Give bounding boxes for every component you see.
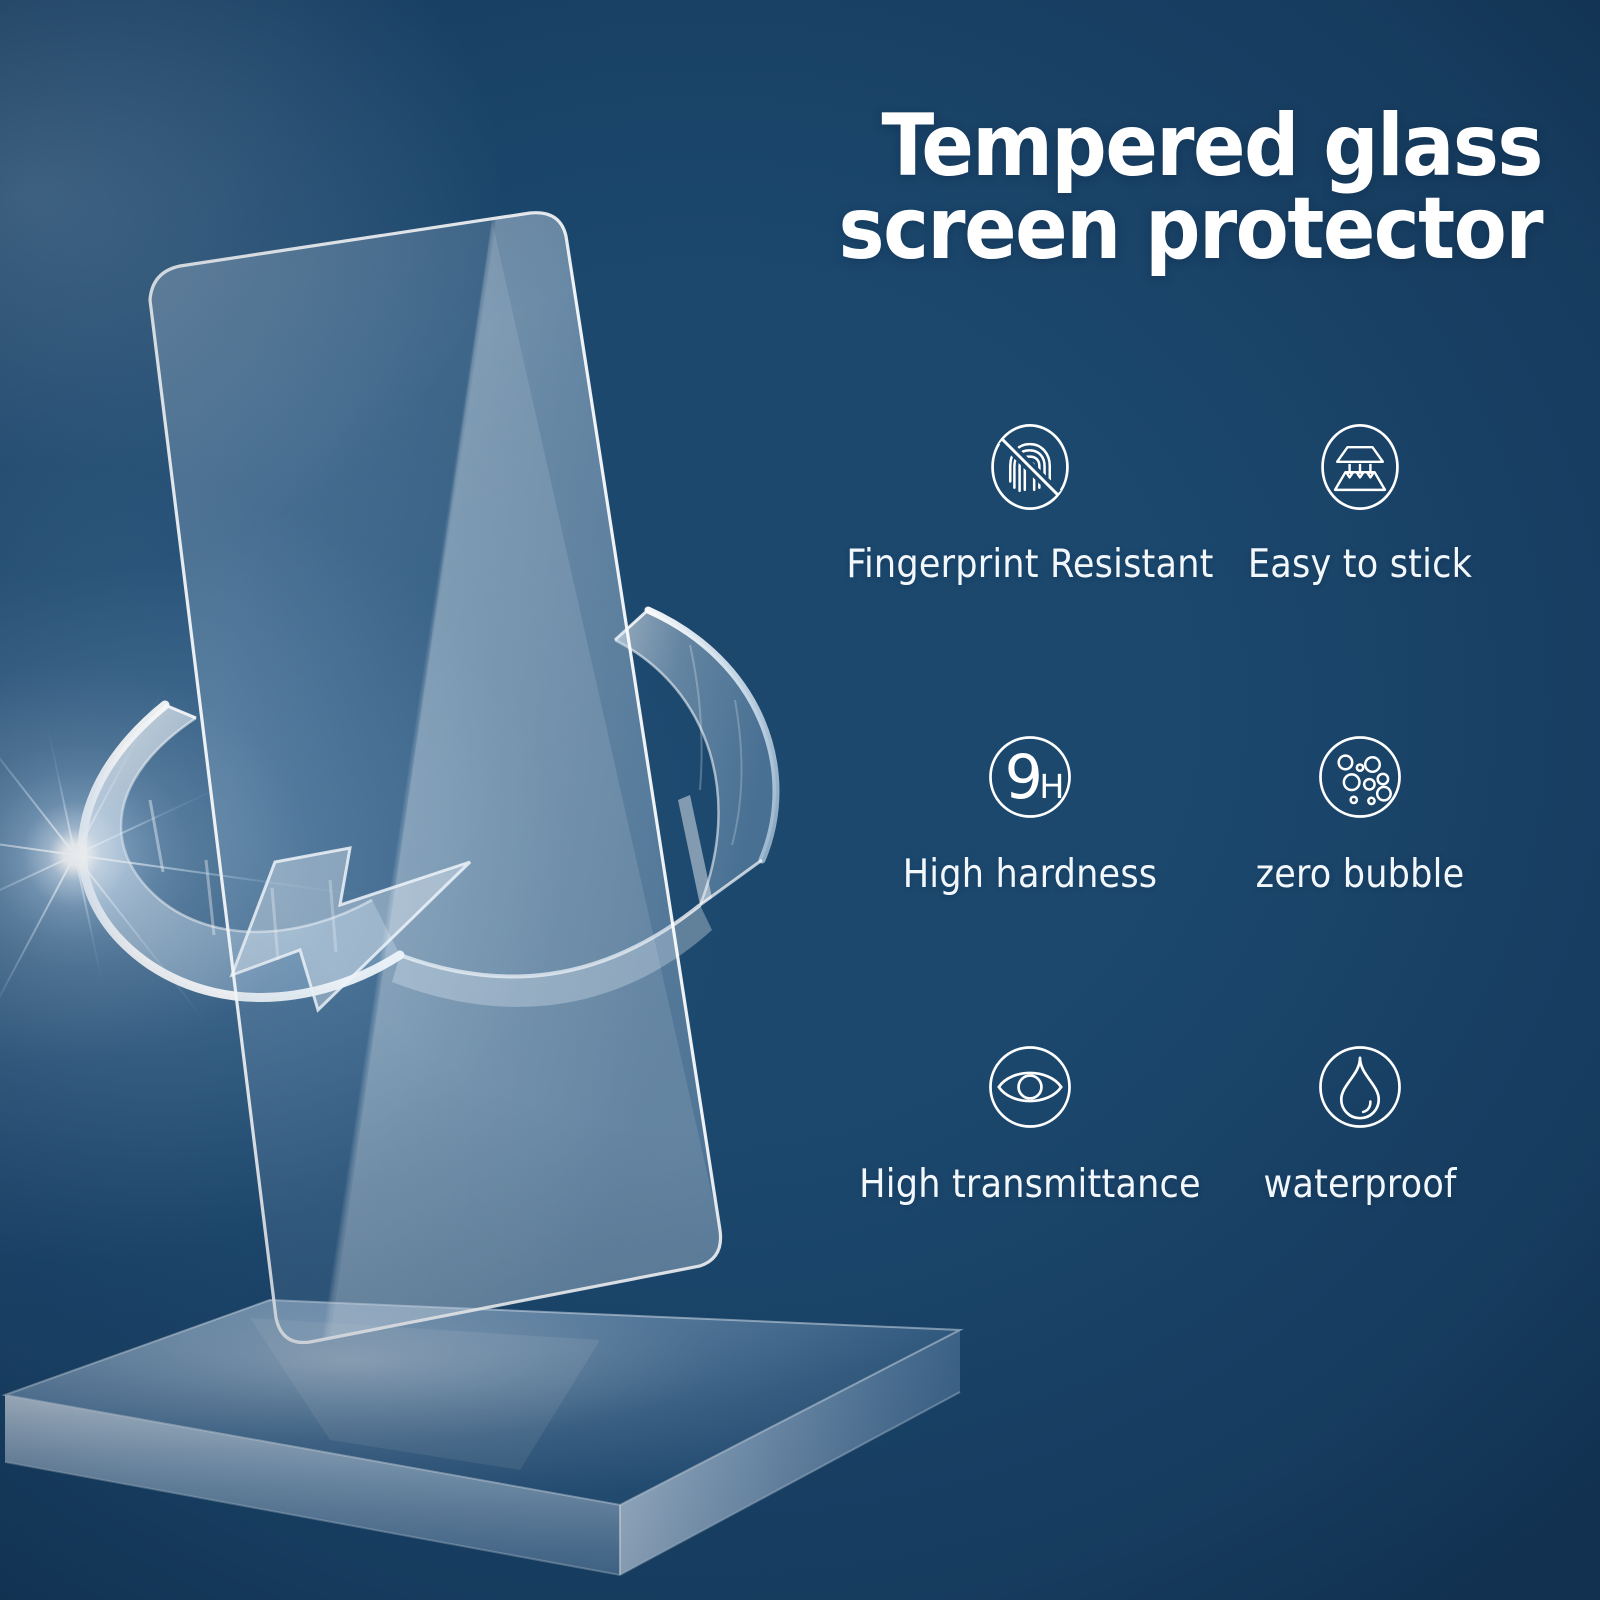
feature-label: High transmittance: [859, 1165, 1201, 1206]
page-title: Tempered glass screen protector: [760, 105, 1560, 272]
hardness-number: 9: [1005, 743, 1043, 813]
feature-high-transmittance[interactable]: High transmittance: [850, 1035, 1210, 1345]
feature-grid: Fingerprint Resistant Easy to stick: [850, 415, 1550, 1345]
eye-icon: [978, 1035, 1082, 1139]
two-plates-arrows-icon: [1308, 415, 1412, 519]
feature-easy-to-stick[interactable]: Easy to stick: [1210, 415, 1510, 725]
bubbles-icon: [1308, 725, 1412, 829]
no-fingerprint-icon: [978, 415, 1082, 519]
feature-zero-bubble[interactable]: zero bubble: [1210, 725, 1510, 1035]
feature-label: zero bubble: [1256, 855, 1465, 896]
feature-waterproof[interactable]: waterproof: [1210, 1035, 1510, 1345]
title-line-2: screen protector: [760, 188, 1542, 271]
feature-fingerprint-resistant[interactable]: Fingerprint Resistant: [850, 415, 1210, 725]
feature-label: High hardness: [903, 855, 1158, 896]
info-panel: Tempered glass screen protector: [760, 105, 1560, 1435]
nine-h-icon: 9 H: [978, 725, 1082, 829]
product-banner: Tempered glass screen protector: [0, 0, 1600, 1600]
feature-high-hardness[interactable]: 9 H High hardness: [850, 725, 1210, 1035]
feature-label: Fingerprint Resistant: [846, 545, 1213, 586]
hardness-unit: H: [1039, 767, 1064, 806]
feature-label: waterproof: [1263, 1165, 1456, 1206]
feature-label: Easy to stick: [1248, 545, 1472, 586]
water-drop-icon: [1308, 1035, 1412, 1139]
